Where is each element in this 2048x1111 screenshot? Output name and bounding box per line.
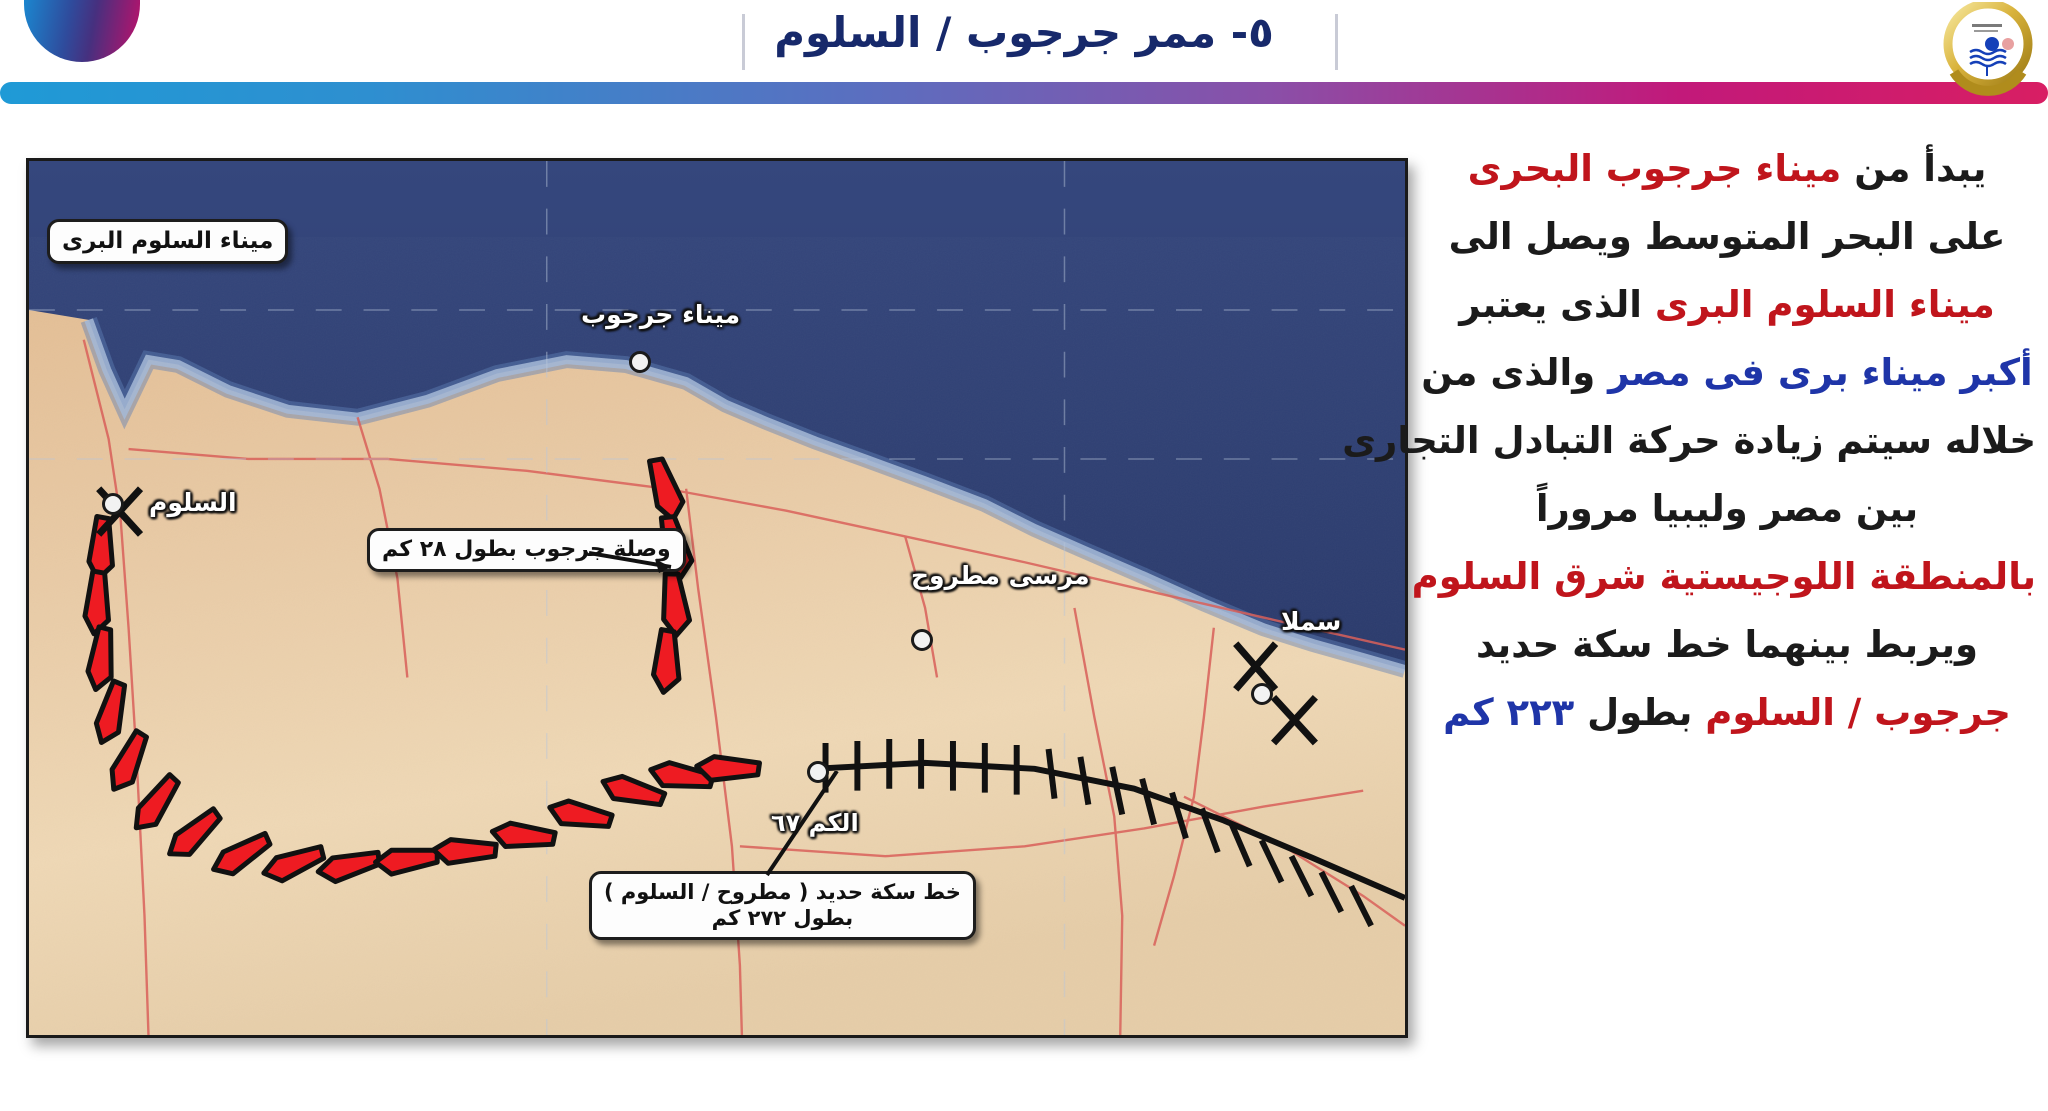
callout-railway-line-1: خط سكة حديد ( مطروح / السلوم ) — [604, 879, 961, 905]
description-line-6: بين مصر وليبيا مروراً — [1418, 490, 2036, 527]
desc-9-part-1: جرجوب / السلوم — [1705, 691, 2011, 734]
desc-4-part-1: أكبر ميناء برى فى مصر — [1608, 351, 2033, 394]
desc-9-part-3: ٢٢٣ كم — [1443, 691, 1574, 734]
page-title: ٥- ممر جرجوب / السلوم — [0, 8, 2048, 57]
desc-7-part-1: بالمنطقة اللوجيستية شرق السلوم — [1412, 555, 2036, 598]
label-salloum-city: السلوم — [149, 488, 237, 517]
description-line-5: خلاله سيتم زيادة حركة التبادل التجارى — [1418, 422, 2036, 459]
description-line-7: بالمنطقة اللوجيستية شرق السلوم — [1418, 558, 2036, 595]
desc-8-part-1: ويربط بينهما خط سكة حديد — [1476, 623, 1978, 666]
description-line-8: ويربط بينهما خط سكة حديد — [1418, 626, 2036, 663]
label-marsa-matrouh: مرسى مطروح — [911, 561, 1090, 590]
description-line-9: جرجوب / السلوم بطول ٢٢٣ كم — [1418, 694, 2036, 731]
callout-railway-line-2: بطول ٢٧٢ كم — [604, 905, 961, 931]
description-line-1: يبدأ من ميناء جرجوب البحرى — [1418, 150, 2036, 187]
label-sidi-barrani: سملا — [1281, 607, 1341, 636]
desc-9-part-2: بطول — [1574, 691, 1705, 734]
description-line-3: ميناء السلوم البرى الذى يعتبر — [1418, 286, 2036, 323]
marker-sidi-barrani[interactable] — [1251, 683, 1273, 705]
description-panel: يبدأ من ميناء جرجوب البحرى على البحر الم… — [1418, 150, 2036, 1080]
description-line-2: على البحر المتوسط ويصل الى — [1418, 218, 2036, 255]
desc-5-part-1: خلاله سيتم زيادة حركة التبادل التجارى — [1342, 419, 2036, 462]
desc-4-part-2: والذى من — [1421, 351, 1608, 394]
marker-marsa-matrouh[interactable] — [911, 629, 933, 651]
page-header: ٥- ممر جرجوب / السلوم — [0, 0, 2048, 92]
leader-line-railway — [729, 771, 849, 881]
desc-1-part-1: يبدأ من — [1841, 147, 1986, 190]
desc-2-part-1: على البحر المتوسط ويصل الى — [1449, 215, 2006, 258]
marker-salloum-city[interactable] — [102, 493, 124, 515]
ministry-of-transport-emblem-icon — [1934, 2, 2042, 98]
desc-6-part-1: بين مصر وليبيا مروراً — [1536, 487, 1918, 530]
marker-gargoub-port[interactable] — [629, 351, 651, 373]
header-gradient-bar — [0, 82, 2048, 104]
desc-3-part-1: ميناء السلوم البرى — [1655, 283, 1995, 326]
leader-line-gargoub-link — [589, 541, 689, 577]
corridor-map[interactable]: ميناء السلوم البرى السلوم ميناء جرجوب وص… — [26, 158, 1408, 1038]
desc-3-part-2: الذى يعتبر — [1459, 283, 1655, 326]
description-line-4: أكبر ميناء برى فى مصر والذى من — [1418, 354, 2036, 391]
desc-1-part-2: ميناء جرجوب البحرى — [1468, 147, 1842, 190]
callout-railway-line[interactable]: خط سكة حديد ( مطروح / السلوم ) بطول ٢٧٢ … — [589, 871, 976, 940]
label-gargoub-port: ميناء جرجوب — [581, 300, 740, 329]
callout-salloum-land-port[interactable]: ميناء السلوم البرى — [47, 219, 288, 264]
callout-salloum-land-port-label: ميناء السلوم البرى — [62, 228, 273, 254]
